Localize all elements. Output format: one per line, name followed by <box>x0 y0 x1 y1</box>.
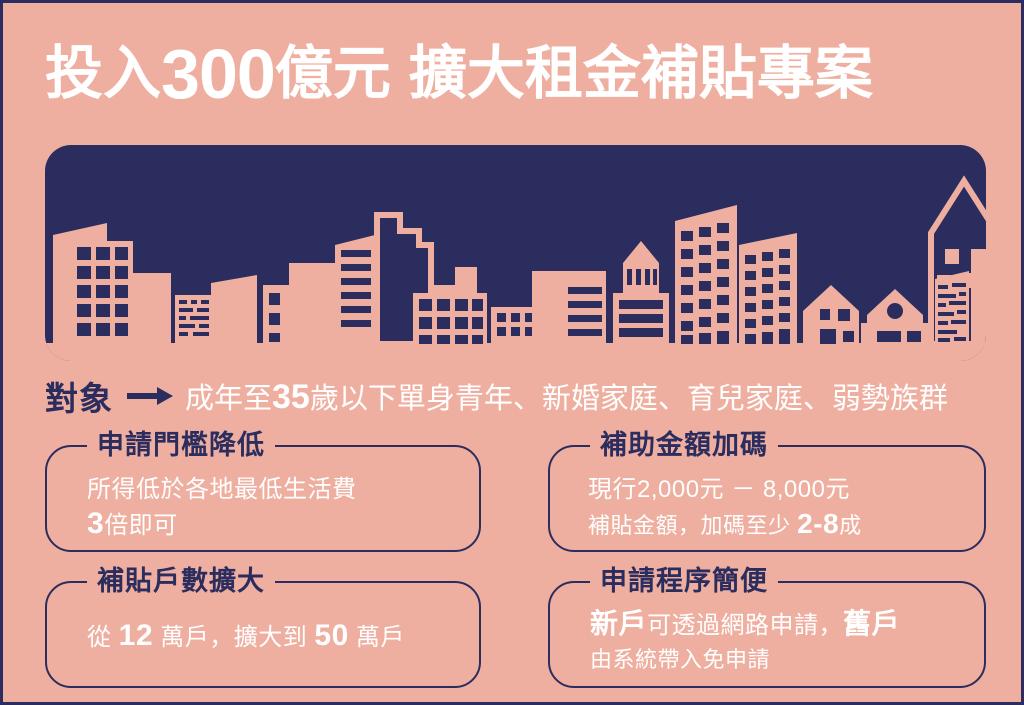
card-process-body: 新戶可透過網路申請，舊戶 由系統帶入免申請 <box>590 607 966 677</box>
card-process-line1: 新戶可透過網路申請，舊戶 <box>590 607 966 643</box>
card-process-title: 申請程序簡便 <box>590 564 778 598</box>
city-skyline-icon <box>45 145 986 361</box>
card-process-old-user: 舊戶 <box>843 608 900 639</box>
card-process: 申請程序簡便 新戶可透過網路申請，舊戶 由系統帶入免申請 <box>548 581 986 688</box>
card-threshold-line2-rest: 倍即可 <box>104 512 178 539</box>
headline-part2: 億元 <box>275 45 391 103</box>
headline-part3: 擴大租金補貼專案 <box>409 45 873 103</box>
headline-amount: 300 <box>161 39 275 109</box>
target-age: 35 <box>272 378 310 416</box>
card-amount: 補助金額加碼 現行2,000元 － 8,000元 補貼金額，加碼至少 2-8成 <box>548 445 986 552</box>
page-title: 投入300億元擴大租金補貼專案 <box>45 33 995 115</box>
card-amount-line2-tail: 成 <box>839 513 862 538</box>
headline-part1: 投入 <box>45 45 161 103</box>
infographic-poster: 投入300億元擴大租金補貼專案 <box>0 0 1024 705</box>
target-label: 對象 <box>45 372 113 420</box>
card-households-suffix: 萬戶 <box>349 624 405 651</box>
card-households-from: 12 <box>119 619 153 652</box>
card-amount-title: 補助金額加碼 <box>590 428 778 462</box>
card-process-new-user: 新戶 <box>590 608 647 639</box>
card-households-line1: 從 12 萬戶，擴大到 50 萬戶 <box>87 619 461 655</box>
card-process-line2: 由系統帶入免申請 <box>590 643 966 677</box>
card-process-line1-mid: 可透過網路申請， <box>647 612 843 639</box>
city-skyline-panel <box>45 145 986 361</box>
card-threshold-title: 申請門檻降低 <box>87 428 275 462</box>
target-text-before: 成年至 <box>185 383 272 415</box>
card-amount-body: 現行2,000元 － 8,000元 補貼金額，加碼至少 2-8成 <box>588 473 966 543</box>
card-amount-line2-rest: 補貼金額，加碼至少 <box>588 513 797 538</box>
card-households-title: 補貼戶數擴大 <box>87 564 275 598</box>
card-amount-line1: 現行2,000元 － 8,000元 <box>588 473 966 507</box>
card-threshold-multiplier: 3 <box>87 507 104 540</box>
card-households-to: 50 <box>314 619 348 652</box>
card-threshold: 申請門檻降低 所得低於各地最低生活費 3倍即可 <box>45 445 481 552</box>
target-text: 成年至35歲以下單身青年、新婚家庭、育兒家庭、弱勢族群 <box>185 375 948 417</box>
card-households: 補貼戶數擴大 從 12 萬戶，擴大到 50 萬戶 <box>45 581 481 688</box>
card-amount-increase: 2-8 <box>797 508 839 539</box>
card-households-prefix: 從 <box>87 624 119 651</box>
card-amount-line2: 補貼金額，加碼至少 2-8成 <box>588 507 966 543</box>
target-text-after: 歲以下單身青年、新婚家庭、育兒家庭、弱勢族群 <box>310 383 948 415</box>
target-audience-row: 對象 成年至35歲以下單身青年、新婚家庭、育兒家庭、弱勢族群 <box>45 375 995 417</box>
card-threshold-line2: 3倍即可 <box>87 507 461 543</box>
card-threshold-body: 所得低於各地最低生活費 3倍即可 <box>87 473 461 543</box>
card-threshold-line1: 所得低於各地最低生活費 <box>87 473 461 507</box>
card-households-mid: 萬戶，擴大到 <box>153 624 314 651</box>
card-households-body: 從 12 萬戶，擴大到 50 萬戶 <box>87 619 461 655</box>
right-arrow-icon <box>127 385 173 407</box>
